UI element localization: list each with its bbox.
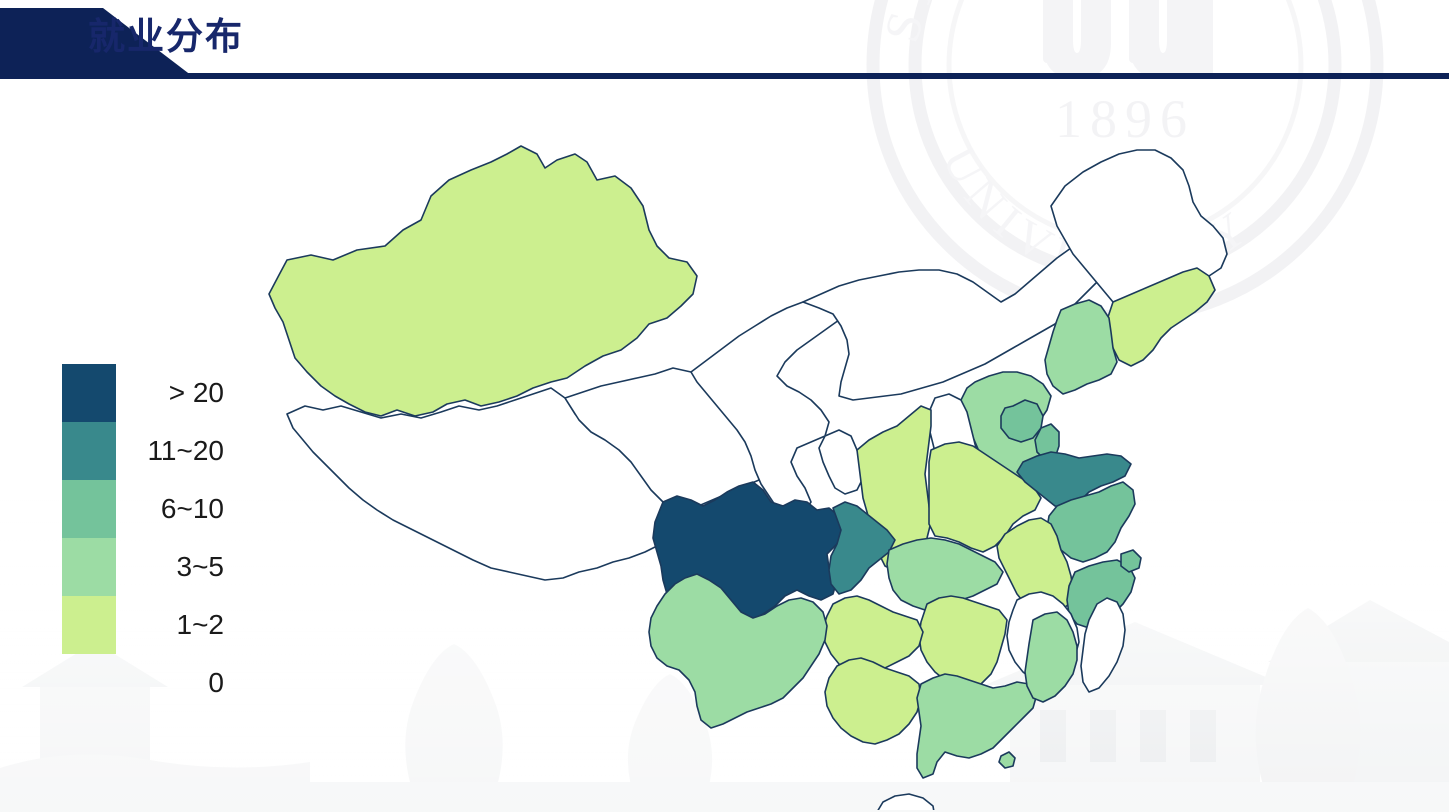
- legend-row[interactable]: > 20: [62, 364, 232, 422]
- map-region-fujian[interactable]: [1025, 612, 1077, 702]
- legend-row[interactable]: 3~5: [62, 538, 232, 596]
- china-choropleth-map[interactable]: [245, 110, 1245, 810]
- legend-row[interactable]: 11~20: [62, 422, 232, 480]
- map-region-guangdong[interactable]: [917, 674, 1037, 778]
- legend-swatch-gt20: [62, 364, 116, 422]
- legend-label-6-10: 6~10: [116, 480, 232, 538]
- legend-label-gt20: > 20: [116, 364, 232, 422]
- map-region-guangxi[interactable]: [825, 658, 921, 744]
- legend-label-11-20: 11~20: [116, 422, 232, 480]
- slide-root: 1896 SICHUAN UNIVERSITY: [0, 0, 1449, 812]
- legend-swatch-11-20: [62, 422, 116, 480]
- legend-swatch-6-10: [62, 480, 116, 538]
- map-legend: > 20 11~20 6~10 3~5 1~2 0: [62, 364, 232, 712]
- map-region-hongkong[interactable]: [999, 752, 1015, 768]
- svg-text:SICHUAN: SICHUAN: [873, 0, 1139, 48]
- page-title: 就业分布: [88, 12, 244, 62]
- map-region-hunan[interactable]: [919, 596, 1007, 688]
- legend-label-3-5: 3~5: [116, 538, 232, 596]
- legend-label-1-2: 1~2: [116, 596, 232, 654]
- legend-row[interactable]: 6~10: [62, 480, 232, 538]
- map-region-shanghai[interactable]: [1121, 550, 1141, 572]
- legend-row[interactable]: 1~2: [62, 596, 232, 654]
- header-divider-line: [86, 73, 1449, 79]
- map-region-hainan[interactable]: [877, 794, 935, 810]
- legend-label-zero: 0: [116, 654, 232, 712]
- legend-swatch-1-2: [62, 596, 116, 654]
- map-region-xinjiang[interactable]: [269, 146, 697, 416]
- map-region-ningxia[interactable]: [819, 430, 863, 494]
- legend-swatch-3-5: [62, 538, 116, 596]
- seal-text-top: SICHUAN: [873, 0, 1139, 48]
- legend-row[interactable]: 0: [62, 654, 232, 712]
